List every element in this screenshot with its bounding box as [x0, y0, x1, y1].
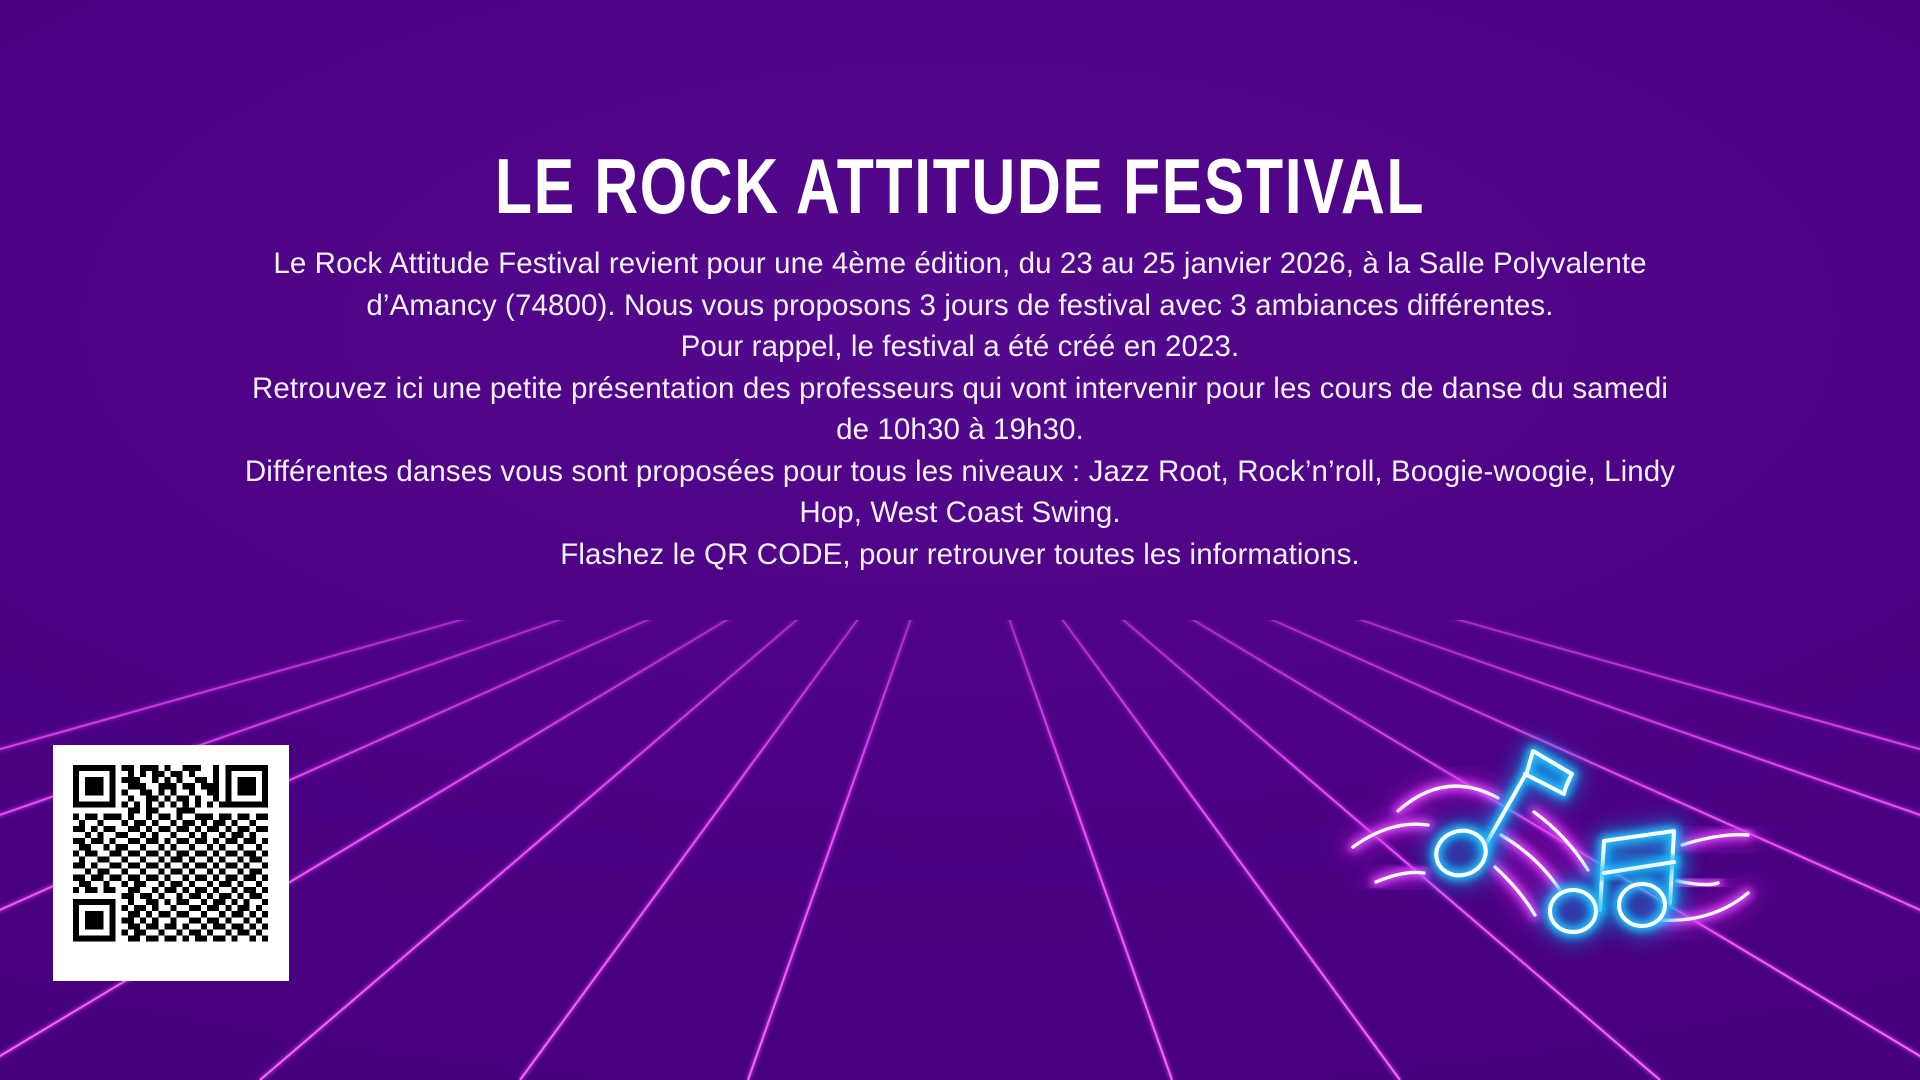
qr-code[interactable]: [53, 745, 289, 981]
body-line-7: Hop, West Coast Swing.: [130, 492, 1790, 534]
neon-music-notes-icon: [1320, 715, 1770, 965]
body-copy: Le Rock Attitude Festival revient pour u…: [130, 243, 1790, 575]
body-line-5: de 10h30 à 19h30.: [130, 409, 1790, 451]
poster-root: LE ROCK ATTITUDE FESTIVAL Le Rock Attitu…: [0, 0, 1920, 1080]
body-line-4: Retrouvez ici une petite présentation de…: [130, 368, 1790, 410]
body-line-6: Différentes danses vous sont proposées p…: [130, 451, 1790, 493]
body-line-1: Le Rock Attitude Festival revient pour u…: [130, 243, 1790, 285]
body-line-3: Pour rappel, le festival a été créé en 2…: [130, 326, 1790, 368]
body-line-2: d’Amancy (74800). Nous vous proposons 3 …: [130, 285, 1790, 327]
qr-code-image: [65, 757, 277, 969]
body-line-8: Flashez le QR CODE, pour retrouver toute…: [130, 534, 1790, 576]
page-title: LE ROCK ATTITUDE FESTIVAL: [211, 147, 1709, 225]
